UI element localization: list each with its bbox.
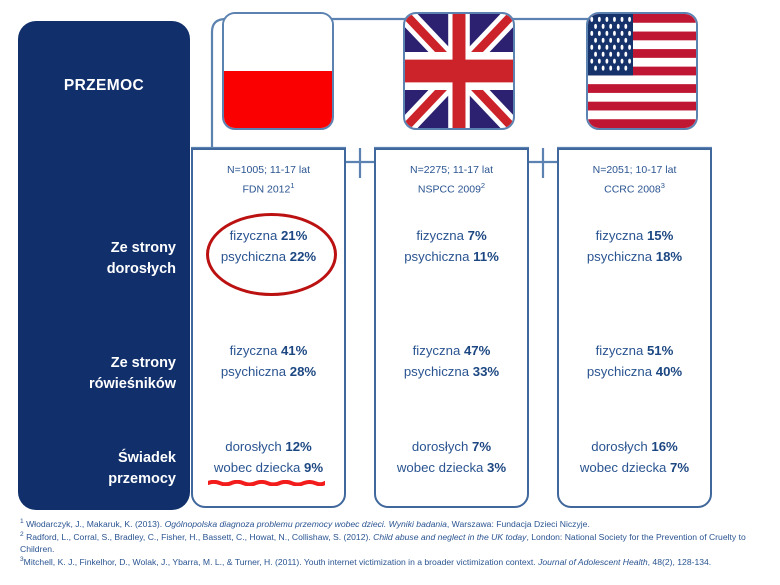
column-header-uk: N=2275; 11-17 lat NSPCC 20092 (376, 161, 527, 199)
page-title: PRZEMOC (18, 77, 190, 95)
sidebar-item-witness: Świadek przemocy (26, 448, 176, 489)
value-line: psychiczna 40% (559, 361, 710, 382)
data-column-uk: N=2275; 11-17 lat NSPCC 20092 fizyczna 7… (374, 148, 529, 508)
poland-flag-red-band (224, 71, 332, 128)
poland-flag-icon (222, 12, 334, 130)
footnote-1: 1 Włodarczyk, J., Makaruk, K. (2013). Og… (20, 517, 768, 530)
value-line: psychiczna 22% (193, 246, 344, 267)
value-line: wobec dziecka 7% (559, 457, 710, 478)
column-sample-usa: N=2051; 10-17 lat (559, 161, 710, 179)
value-line: dorosłych 7% (376, 436, 527, 457)
poland-flag-white-band (224, 14, 332, 71)
united-states-flag-icon (586, 12, 698, 130)
column-source-poland: FDN 20121 (193, 179, 344, 199)
column-header-poland: N=1005; 11-17 lat FDN 20121 (193, 161, 344, 199)
cell-poland-adults: fizyczna 21% psychiczna 22% (193, 225, 344, 268)
data-column-poland: N=1005; 11-17 lat FDN 20121 fizyczna 21%… (191, 148, 346, 508)
column-source-usa: CCRC 20083 (559, 179, 710, 199)
value-line: psychiczna 33% (376, 361, 527, 382)
cell-usa-adults: fizyczna 15% psychiczna 18% (559, 225, 710, 268)
footnote-3: 3Mitchell, K. J., Finkelhor, D., Wolak, … (20, 555, 768, 568)
sidebar-item-witness-line1: Świadek (26, 448, 176, 469)
sidebar-item-peers-line1: Ze strony (26, 353, 176, 374)
cell-usa-peers: fizyczna 51% psychiczna 40% (559, 340, 710, 383)
value-line: fizyczna 47% (376, 340, 527, 361)
data-column-usa: N=2051; 10-17 lat CCRC 20083 fizyczna 15… (557, 148, 712, 508)
value-line: psychiczna 11% (376, 246, 527, 267)
value-line: psychiczna 18% (559, 246, 710, 267)
category-sidebar: PRZEMOC Ze strony dorosłych Ze strony ró… (18, 21, 190, 510)
sidebar-item-peers-line2: rówieśników (26, 374, 176, 395)
sidebar-item-adults-line1: Ze strony (26, 238, 176, 259)
column-header-usa: N=2051; 10-17 lat CCRC 20083 (559, 161, 710, 199)
footnote-2: 2 Radford, L., Corral, S., Bradley, C., … (20, 530, 768, 555)
cell-poland-peers: fizyczna 41% psychiczna 28% (193, 340, 344, 383)
value-line: dorosłych 16% (559, 436, 710, 457)
column-source-uk: NSPCC 20092 (376, 179, 527, 199)
value-line: dorosłych 12% (193, 436, 344, 457)
sidebar-item-witness-line2: przemocy (26, 469, 176, 490)
value-line: wobec dziecka 9% (193, 457, 344, 478)
value-line: wobec dziecka 3% (376, 457, 527, 478)
value-line: fizyczna 51% (559, 340, 710, 361)
cell-poland-witness: dorosłych 12% wobec dziecka 9% (193, 436, 344, 479)
infographic-root: PRZEMOC Ze strony dorosłych Ze strony ró… (0, 0, 780, 585)
value-line: fizyczna 15% (559, 225, 710, 246)
column-sample-uk: N=2275; 11-17 lat (376, 161, 527, 179)
value-line: fizyczna 21% (193, 225, 344, 246)
sidebar-item-adults-line2: dorosłych (26, 259, 176, 280)
sidebar-item-peers: Ze strony rówieśników (26, 353, 176, 394)
cell-uk-peers: fizyczna 47% psychiczna 33% (376, 340, 527, 383)
cell-uk-adults: fizyczna 7% psychiczna 11% (376, 225, 527, 268)
cell-usa-witness: dorosłych 16% wobec dziecka 7% (559, 436, 710, 479)
column-sample-poland: N=1005; 11-17 lat (193, 161, 344, 179)
value-line: fizyczna 41% (193, 340, 344, 361)
united-kingdom-flag-icon (403, 12, 515, 130)
cell-uk-witness: dorosłych 7% wobec dziecka 3% (376, 436, 527, 479)
value-line: psychiczna 28% (193, 361, 344, 382)
footnotes-block: 1 Włodarczyk, J., Makaruk, K. (2013). Og… (20, 517, 768, 568)
value-line: fizyczna 7% (376, 225, 527, 246)
sidebar-item-adults: Ze strony dorosłych (26, 238, 176, 279)
